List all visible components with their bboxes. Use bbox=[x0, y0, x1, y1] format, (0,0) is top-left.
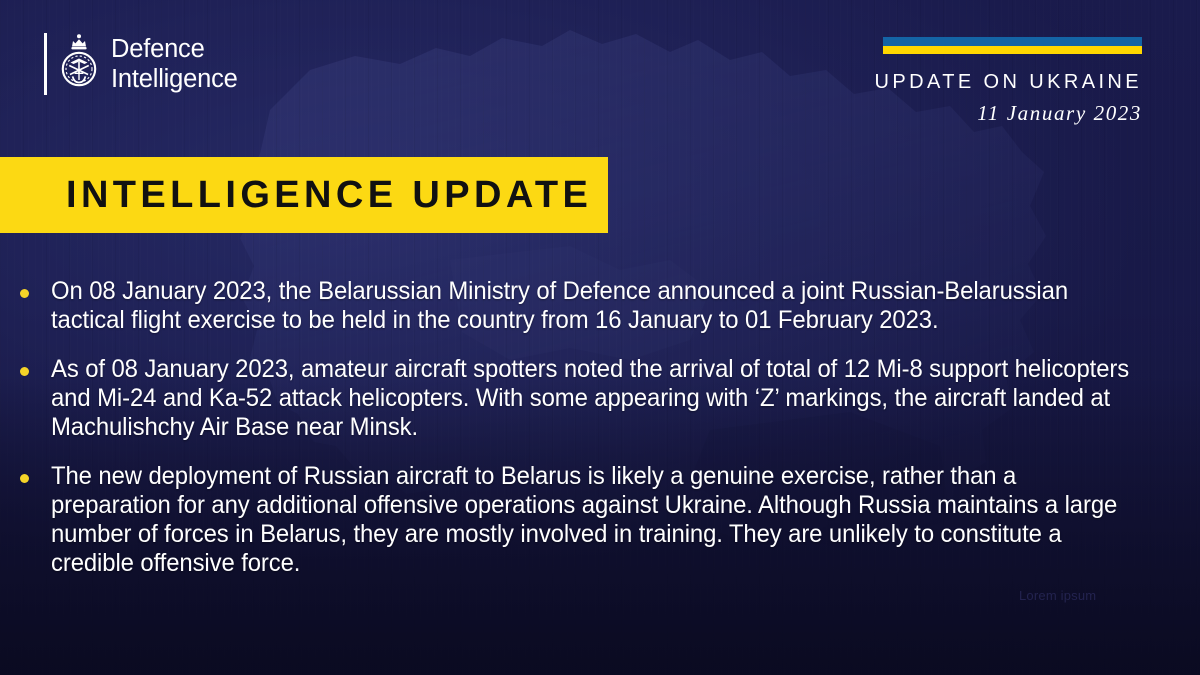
ukraine-flag-bar-icon bbox=[883, 37, 1142, 54]
list-item: As of 08 January 2023, amateur aircraft … bbox=[20, 355, 1180, 442]
bullet-list: On 08 January 2023, the Belarussian Mini… bbox=[20, 277, 1180, 578]
brand-line-1: Defence bbox=[111, 34, 238, 64]
header-date: 11 January 2023 bbox=[977, 101, 1142, 126]
flag-stripe-yellow bbox=[883, 46, 1142, 55]
list-item: On 08 January 2023, the Belarussian Mini… bbox=[20, 277, 1180, 335]
bullet-marker-icon bbox=[20, 474, 29, 483]
logo-divider-rule bbox=[44, 33, 47, 95]
bullet-text: The new deployment of Russian aircraft t… bbox=[51, 462, 1129, 578]
banner-label: INTELLIGENCE UPDATE bbox=[66, 174, 592, 217]
bullet-marker-icon bbox=[20, 289, 29, 298]
header-title: UPDATE ON UKRAINE bbox=[875, 71, 1142, 94]
bullet-marker-icon bbox=[20, 367, 29, 376]
brand-line-2: Intelligence bbox=[111, 64, 238, 94]
flag-stripe-blue bbox=[883, 37, 1142, 46]
defence-intelligence-logo: Defence Intelligence bbox=[44, 33, 238, 95]
mod-crest-icon bbox=[60, 33, 98, 93]
bullet-text: As of 08 January 2023, amateur aircraft … bbox=[51, 355, 1129, 442]
placeholder-text: Lorem ipsum bbox=[1019, 588, 1096, 603]
brand-wordmark: Defence Intelligence bbox=[111, 34, 238, 94]
bullet-text: On 08 January 2023, the Belarussian Mini… bbox=[51, 277, 1129, 335]
list-item: The new deployment of Russian aircraft t… bbox=[20, 462, 1180, 578]
intelligence-update-slide: Defence Intelligence UPDATE ON UKRAINE 1… bbox=[0, 0, 1200, 675]
intelligence-update-banner: INTELLIGENCE UPDATE bbox=[0, 157, 608, 233]
